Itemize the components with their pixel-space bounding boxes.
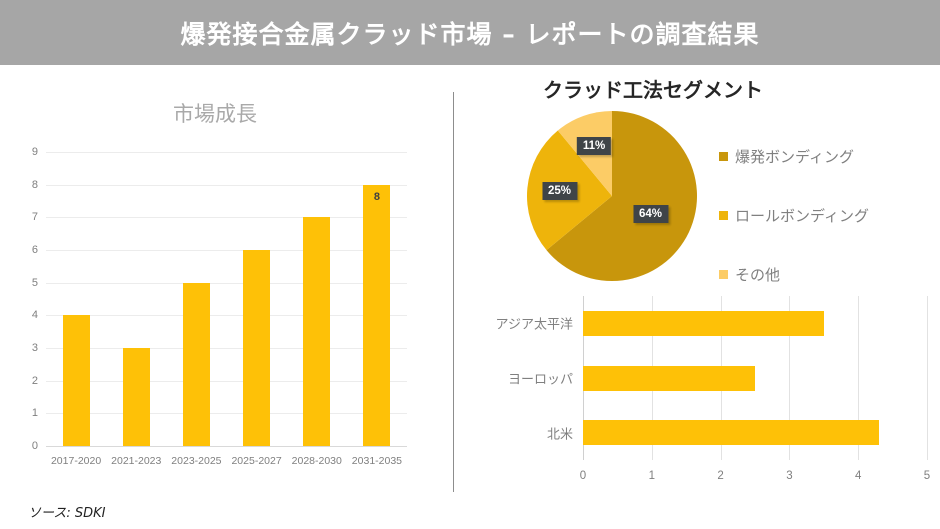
pie-slice-label: 25%	[542, 182, 577, 200]
y-axis-tick: 6	[32, 244, 38, 256]
segment-panel: クラッド工法セグメント 64%25%11% 爆発ボンディングロールボンディングそ…	[453, 65, 940, 529]
regional-share-plot: 012345 アジア太平洋ヨーロッパ北米	[583, 296, 927, 460]
x-axis-tick: 2021-2023	[111, 455, 161, 467]
pie-legend: 爆発ボンディングロールボンディングその他	[719, 127, 934, 304]
y-axis-tick: 5	[32, 277, 38, 289]
pie-chart: 64%25%11%	[527, 111, 697, 281]
bar[interactable]	[583, 366, 755, 391]
y-axis-tick: 9	[32, 146, 38, 158]
source-note: ソース: SDKI	[28, 502, 105, 521]
bar[interactable]	[243, 250, 270, 446]
bar[interactable]	[183, 283, 210, 446]
bar-value-label: 8	[363, 191, 390, 203]
page-title: 爆発接合金属クラッド市場 – レポートの調査結果	[181, 15, 760, 51]
market-growth-title: 市場成長	[0, 98, 430, 128]
market-growth-plot: 0123456789 2017-20202021-20232023-202520…	[46, 152, 407, 446]
legend-item-label: 爆発ボンディング	[735, 146, 854, 167]
legend-item-label: その他	[735, 264, 780, 285]
x-axis-tick: 2023-2025	[171, 455, 221, 467]
x-axis-tick: 2025-2027	[231, 455, 281, 467]
x-axis-tick: 2031-2035	[352, 455, 402, 467]
pie-chart-title: クラッド工法セグメント	[453, 74, 853, 103]
pie-slice-label: 11%	[577, 137, 611, 155]
pie-slice-label: 64%	[633, 205, 668, 223]
y-axis-category-label: ヨーロッパ	[508, 369, 573, 388]
x-axis-tick: 1	[649, 470, 655, 482]
market-growth-bars: 2017-20202021-20232023-20252025-20272028…	[46, 152, 407, 446]
legend-swatch-icon	[719, 152, 728, 161]
x-axis-tick: 2028-2030	[292, 455, 342, 467]
y-axis-tick: 0	[32, 440, 38, 452]
y-axis-tick: 1	[32, 407, 38, 419]
y-axis-tick: 4	[32, 309, 38, 321]
header-banner: 爆発接合金属クラッド市場 – レポートの調査結果	[0, 0, 940, 65]
bar[interactable]: 8	[363, 185, 390, 446]
y-axis-tick: 2	[32, 375, 38, 387]
legend-swatch-icon	[719, 270, 728, 279]
market-growth-panel: 市場成長 0123456789 2017-20202021-20232023-2…	[0, 65, 453, 529]
infographic-root: 爆発接合金属クラッド市場 – レポートの調査結果 市場成長 0123456789…	[0, 0, 940, 529]
y-axis-tick: 8	[32, 179, 38, 191]
bar[interactable]	[123, 348, 150, 446]
y-axis-tick: 3	[32, 342, 38, 354]
bar[interactable]	[303, 217, 330, 446]
legend-item[interactable]: ロールボンディング	[719, 186, 934, 245]
bar[interactable]	[583, 420, 879, 445]
gridline	[46, 446, 407, 447]
bar[interactable]	[63, 315, 90, 446]
x-axis-tick: 3	[786, 470, 792, 482]
x-axis-tick: 2017-2020	[51, 455, 101, 467]
bar[interactable]	[583, 311, 824, 336]
y-axis-tick: 7	[32, 211, 38, 223]
gridline	[927, 296, 928, 460]
x-axis-tick: 5	[924, 470, 930, 482]
y-axis-category-label: アジア太平洋	[496, 314, 573, 333]
x-axis-tick: 0	[580, 470, 586, 482]
legend-item-label: ロールボンディング	[735, 205, 869, 226]
legend-item[interactable]: 爆発ボンディング	[719, 127, 934, 186]
x-axis-tick: 4	[855, 470, 861, 482]
y-axis-category-label: 北米	[547, 423, 573, 442]
legend-swatch-icon	[719, 211, 728, 220]
x-axis-tick: 2	[717, 470, 723, 482]
